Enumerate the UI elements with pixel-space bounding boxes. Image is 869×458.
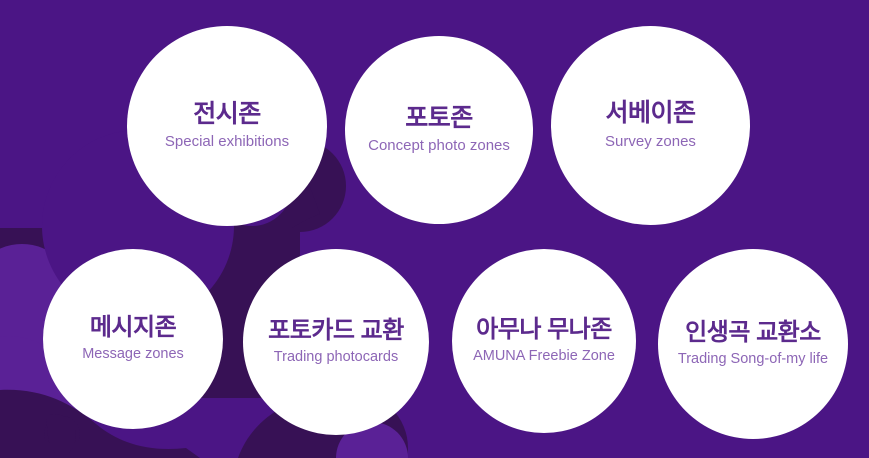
zone-bubble-message[interactable]: 메시지존 Message zones [43, 249, 223, 429]
zone-bubble-amuna-freebie[interactable]: 아무나 무나존 AMUNA Freebie Zone [452, 249, 636, 433]
zone-title: 전시존 [193, 101, 261, 129]
zone-bubble-photo[interactable]: 포토존 Concept photo zones [345, 36, 533, 224]
zone-subtitle: Trading Song-of-my life [678, 351, 828, 368]
zone-title: 인생곡 교환소 [685, 320, 821, 346]
zone-title: 아무나 무나존 [476, 317, 612, 343]
blob-teardrop [47, 414, 77, 458]
zone-title: 서베이존 [605, 100, 695, 128]
zone-bubble-survey[interactable]: 서베이존 Survey zones [551, 26, 750, 225]
zone-subtitle: Trading photocards [274, 349, 398, 366]
blob-small-dot [44, 416, 80, 452]
zone-bubble-exhibition[interactable]: 전시존 Special exhibitions [127, 26, 327, 226]
zone-title: 메시지존 [90, 315, 176, 341]
zone-bubble-song-trade[interactable]: 인생곡 교환소 Trading Song-of-my life [658, 249, 848, 439]
zone-title: 포토존 [405, 105, 473, 133]
zone-bubble-photocard-trade[interactable]: 포토카드 교환 Trading photocards [243, 249, 429, 435]
zone-subtitle: Concept photo zones [368, 137, 510, 155]
zones-infographic-slide: 전시존 Special exhibitions 포토존 Concept phot… [0, 0, 869, 458]
zone-title: 포토카드 교환 [268, 318, 404, 344]
zone-subtitle: Special exhibitions [165, 133, 289, 151]
zone-subtitle: Survey zones [605, 133, 696, 151]
zone-subtitle: AMUNA Freebie Zone [473, 348, 615, 365]
zone-subtitle: Message zones [82, 346, 184, 363]
